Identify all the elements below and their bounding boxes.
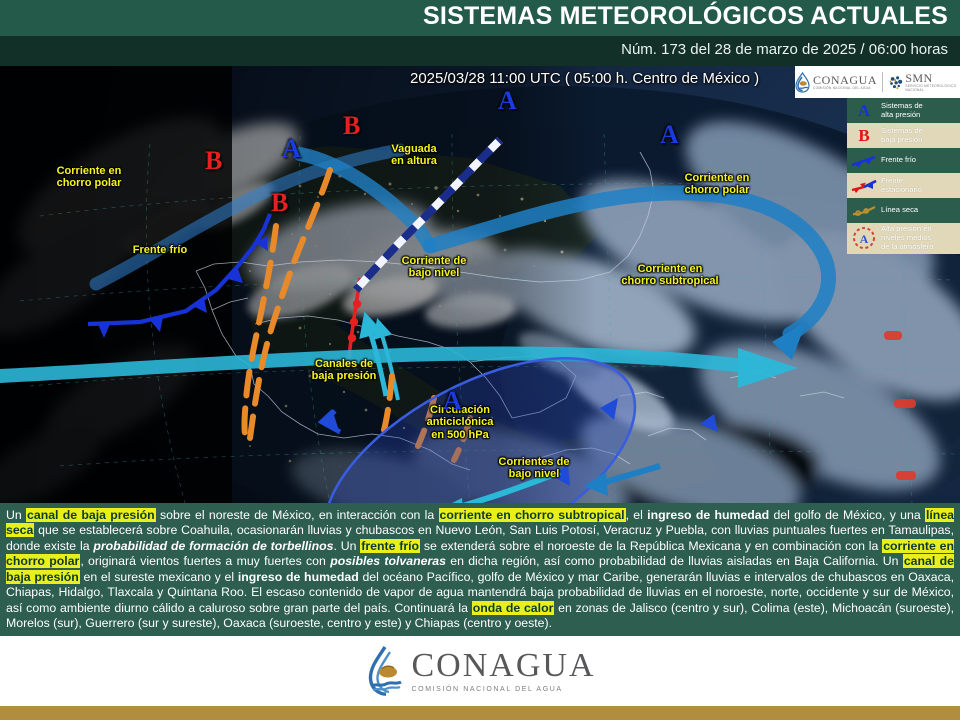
- legend-item-cold-front: Frente frío: [847, 148, 960, 173]
- legend-item-mid-level-high: A Alta presión en niveles medios de la a…: [847, 223, 960, 254]
- map-legend: A Sistemas de alta presión B Sistemas de…: [847, 98, 960, 254]
- high-pressure-A-icon: A: [849, 102, 879, 119]
- discussion-segment: frente frío: [360, 539, 420, 553]
- map-label-jet-subtropical: Corriente en chorro subtropical: [600, 263, 740, 288]
- footer-conagua-wordmark: CONAGUA: [412, 649, 596, 683]
- stationary-front-icon: [849, 178, 879, 194]
- dry-line-icon: [849, 204, 879, 218]
- cold-front-icon: [849, 154, 879, 168]
- discussion-segment: canal de baja presión: [26, 508, 156, 522]
- smn-logo: SMN SERVICIO METEOROLÓGICO NACIONAL: [888, 72, 960, 92]
- discussion-segment: en dicha región, así como probabilidad d…: [446, 554, 903, 568]
- weather-bulletin-page: SISTEMAS METEOROLÓGICOS ACTUALES Núm. 17…: [0, 0, 960, 720]
- footer: CONAGUA COMISIÓN NACIONAL DEL AGUA: [0, 636, 960, 706]
- page-title: SISTEMAS METEOROLÓGICOS ACTUALES: [423, 2, 948, 31]
- map-label-low-pressure-channels: Canales de baja presión: [292, 358, 396, 383]
- map-symbol-high-3: A: [660, 122, 679, 148]
- discussion-segment: ingreso de humedad: [647, 508, 769, 522]
- legend-item-high-pressure: A Sistemas de alta presión: [847, 98, 960, 123]
- footer-conagua-tagline: COMISIÓN NACIONAL DEL AGUA: [412, 686, 596, 693]
- discussion-segment: del golfo de México, y una: [769, 508, 925, 522]
- discussion-segment: , originará vientos fuertes a muy fuerte…: [80, 554, 330, 568]
- map-symbol-high-1: A: [282, 136, 301, 162]
- discussion-segment: posibles tolvaneras: [330, 554, 446, 568]
- discussion-segment: ingreso de humedad: [238, 570, 359, 584]
- legend-item-dry-line: Línea seca: [847, 198, 960, 223]
- map-symbol-high-2: A: [498, 88, 517, 114]
- discussion-segment: se extenderá sobre el noroeste de la Rep…: [420, 539, 882, 553]
- discussion-segment: . Un: [333, 539, 360, 553]
- legend-item-stationary-front: Frente estacionario: [847, 173, 960, 198]
- map-symbol-low-1: B: [205, 148, 222, 174]
- forecast-discussion-text: Un canal de baja presión sobre el norest…: [0, 503, 960, 636]
- legend-label-cold-front: Frente frío: [879, 156, 916, 165]
- discussion-segment: , el: [626, 508, 648, 522]
- conagua-wordmark: CONAGUA: [813, 74, 877, 86]
- discussion-segment: corriente en chorro subtropical: [439, 508, 626, 522]
- discussion-segment: sobre el noreste de México, en interacci…: [156, 508, 439, 522]
- legend-label-low-pressure: Sistemas de baja presión: [879, 127, 923, 145]
- smn-wordmark: SMN: [905, 72, 960, 84]
- conagua-drop-icon-large: [365, 644, 405, 698]
- discussion-paragraph: Un canal de baja presión sobre el norest…: [6, 508, 954, 632]
- discussion-segment: en el sureste mexicano y el: [80, 570, 238, 584]
- bulletin-number-date: Núm. 173 del 28 de marzo de 2025 / 06:00…: [621, 41, 948, 58]
- conagua-drop-icon: [795, 72, 810, 93]
- legend-label-dry-line: Línea seca: [879, 206, 918, 215]
- map-label-jet-polar-east: Corriente en chorro polar: [662, 172, 772, 197]
- map-label-low-level-currents: Corrientes de bajo nivel: [478, 456, 590, 481]
- discussion-segment: probabilidad de formación de torbellinos: [93, 539, 333, 553]
- legend-label-mid-level-high: Alta presión en niveles medios de la atm…: [879, 225, 933, 252]
- smn-tagline: SERVICIO METEOROLÓGICO NACIONAL: [905, 84, 960, 92]
- low-pressure-B-icon: B: [849, 127, 879, 144]
- logo-divider: [882, 72, 883, 92]
- map-label-jet-polar-west: Corriente en chorro polar: [30, 165, 148, 190]
- legend-label-high-pressure: Sistemas de alta presión: [879, 102, 923, 120]
- footer-gold-bar: [0, 706, 960, 720]
- map-label-low-level-jet-gulf: Corriente de bajo nivel: [384, 255, 484, 280]
- agency-logo-strip: CONAGUA COMISIÓN NACIONAL DEL AGUA SMN: [795, 66, 960, 98]
- legend-label-stationary-front: Frente estacionario: [879, 177, 922, 195]
- conagua-logo: CONAGUA COMISIÓN NACIONAL DEL AGUA: [795, 72, 877, 93]
- map-label-upper-trough: Vaguada en altura: [366, 143, 462, 168]
- map-timestamp: 2025/03/28 11:00 UTC ( 05:00 h. Centro d…: [410, 70, 759, 87]
- map-label-cold-front: Frente frío: [116, 244, 204, 256]
- mid-level-high-icon: A: [849, 225, 879, 251]
- map-symbol-low-3: B: [271, 190, 288, 216]
- map-symbol-low-2: B: [343, 113, 360, 139]
- map-symbol-high-4: A: [443, 388, 462, 414]
- smn-gear-icon: [888, 72, 903, 92]
- conagua-tagline: COMISIÓN NACIONAL DEL AGUA: [813, 86, 877, 90]
- legend-item-low-pressure: B Sistemas de baja presión: [847, 123, 960, 148]
- svg-text:A: A: [860, 232, 869, 246]
- discussion-segment: onda de calor: [472, 601, 555, 615]
- discussion-segment: Un: [6, 508, 26, 522]
- footer-conagua-logo: CONAGUA COMISIÓN NACIONAL DEL AGUA: [365, 644, 596, 698]
